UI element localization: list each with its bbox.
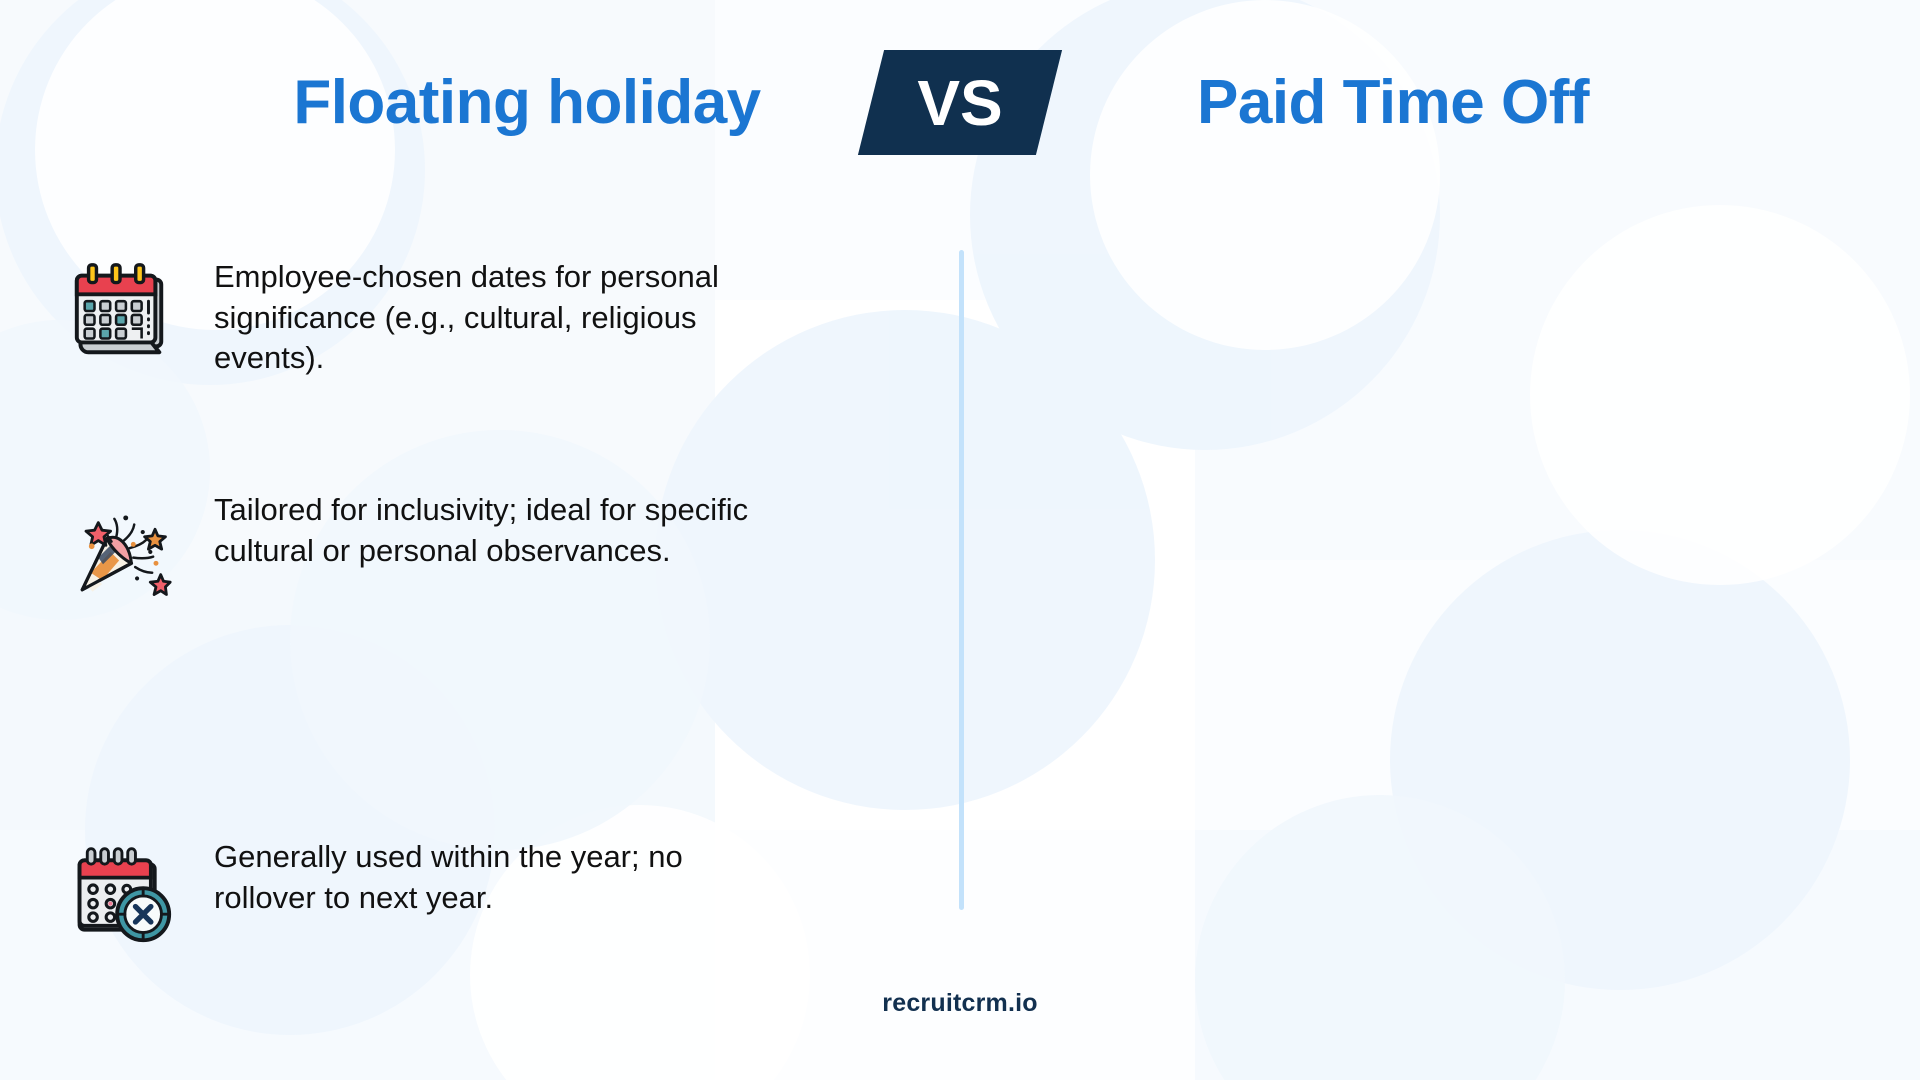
comparison-grid: Employee-chosen dates for personal signi… (0, 245, 1920, 925)
footer: recruitcrm.io (0, 989, 1920, 1018)
comparison-item-text: Tailored for inclusivity; ideal for spec… (214, 490, 774, 571)
calendar-clock-expired-icon (66, 839, 176, 949)
comparison-item: Broad application; covers various needs … (960, 476, 1920, 815)
comparison-item-text: Generally used within the year; no rollo… (214, 837, 774, 918)
left-column-title: Floating holiday (197, 72, 857, 134)
brand-label: recruitcrm.io (882, 989, 1037, 1017)
header: Floating holiday VS Paid Time Off (0, 40, 1920, 165)
vs-badge: VS (871, 50, 1049, 155)
comparison-item-text: Employee-chosen dates for personal signi… (214, 257, 774, 379)
right-column-title: Paid Time Off (1063, 72, 1723, 134)
calendar-grid-icon (66, 257, 176, 367)
party-popper-icon (66, 496, 176, 606)
comparison-item: Employee-chosen dates for personal signi… (0, 245, 960, 476)
comparison-item: More flexible; unused days often roll ov… (960, 815, 1920, 1080)
infographic-canvas: Floating holiday VS Paid Time Off (0, 0, 1920, 1080)
comparison-item: Pre-planned, typically for vacations, si… (960, 245, 1920, 476)
comparison-item: Tailored for inclusivity; ideal for spec… (0, 476, 960, 815)
vs-badge-label: VS (917, 71, 1002, 135)
comparison-item: Generally used within the year; no rollo… (0, 815, 960, 1080)
